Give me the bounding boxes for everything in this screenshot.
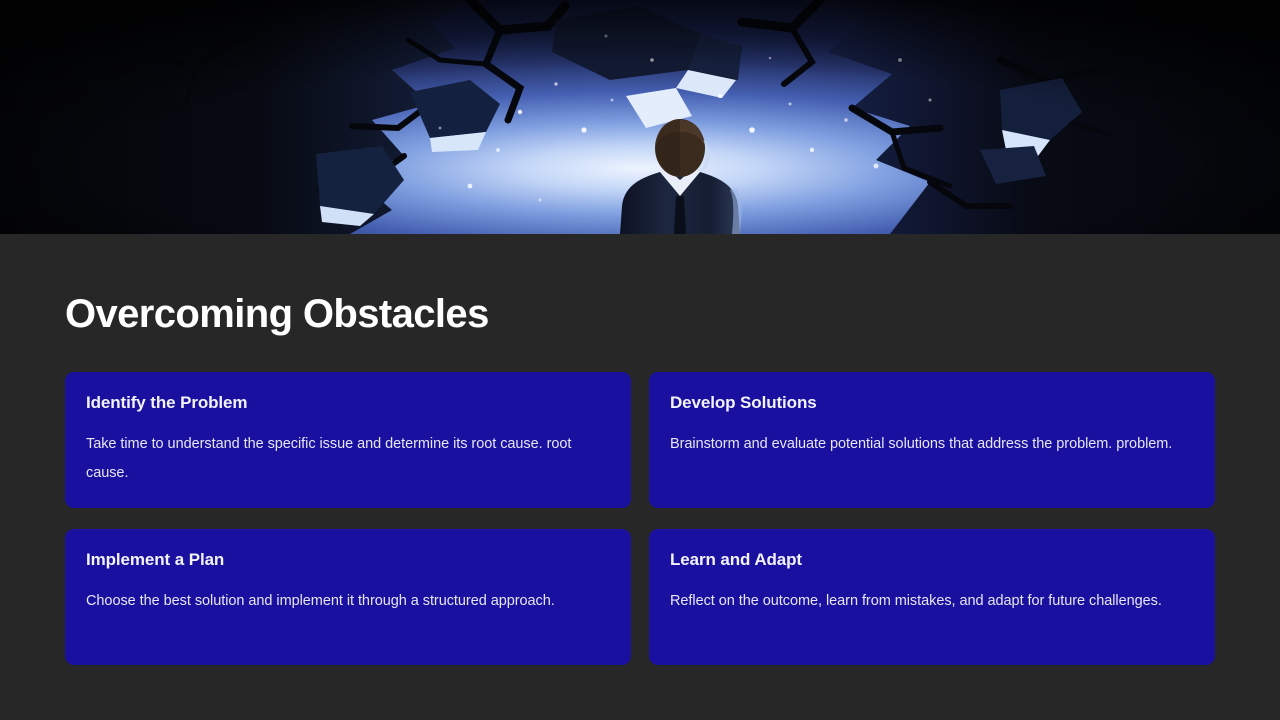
hero-illustration	[0, 0, 1280, 234]
card-description: Reflect on the outcome, learn from mista…	[670, 587, 1194, 616]
card-description: Brainstorm and evaluate potential soluti…	[670, 430, 1194, 459]
slide: Overcoming Obstacles Identify the Proble…	[0, 0, 1280, 720]
card-implement-a-plan[interactable]: Implement a Plan Choose the best solutio…	[65, 529, 631, 665]
cards-grid: Identify the Problem Take time to unders…	[65, 372, 1215, 665]
card-title: Implement a Plan	[86, 551, 610, 570]
hero-image	[0, 0, 1280, 234]
card-title: Learn and Adapt	[670, 551, 1194, 570]
card-title: Identify the Problem	[86, 394, 610, 413]
card-description: Take time to understand the specific iss…	[86, 430, 610, 488]
card-learn-and-adapt[interactable]: Learn and Adapt Reflect on the outcome, …	[649, 529, 1215, 665]
page-title: Overcoming Obstacles	[65, 294, 489, 334]
card-identify-the-problem[interactable]: Identify the Problem Take time to unders…	[65, 372, 631, 508]
slide-content: Overcoming Obstacles Identify the Proble…	[0, 234, 1280, 720]
card-title: Develop Solutions	[670, 394, 1194, 413]
card-develop-solutions[interactable]: Develop Solutions Brainstorm and evaluat…	[649, 372, 1215, 508]
card-description: Choose the best solution and implement i…	[86, 587, 610, 616]
